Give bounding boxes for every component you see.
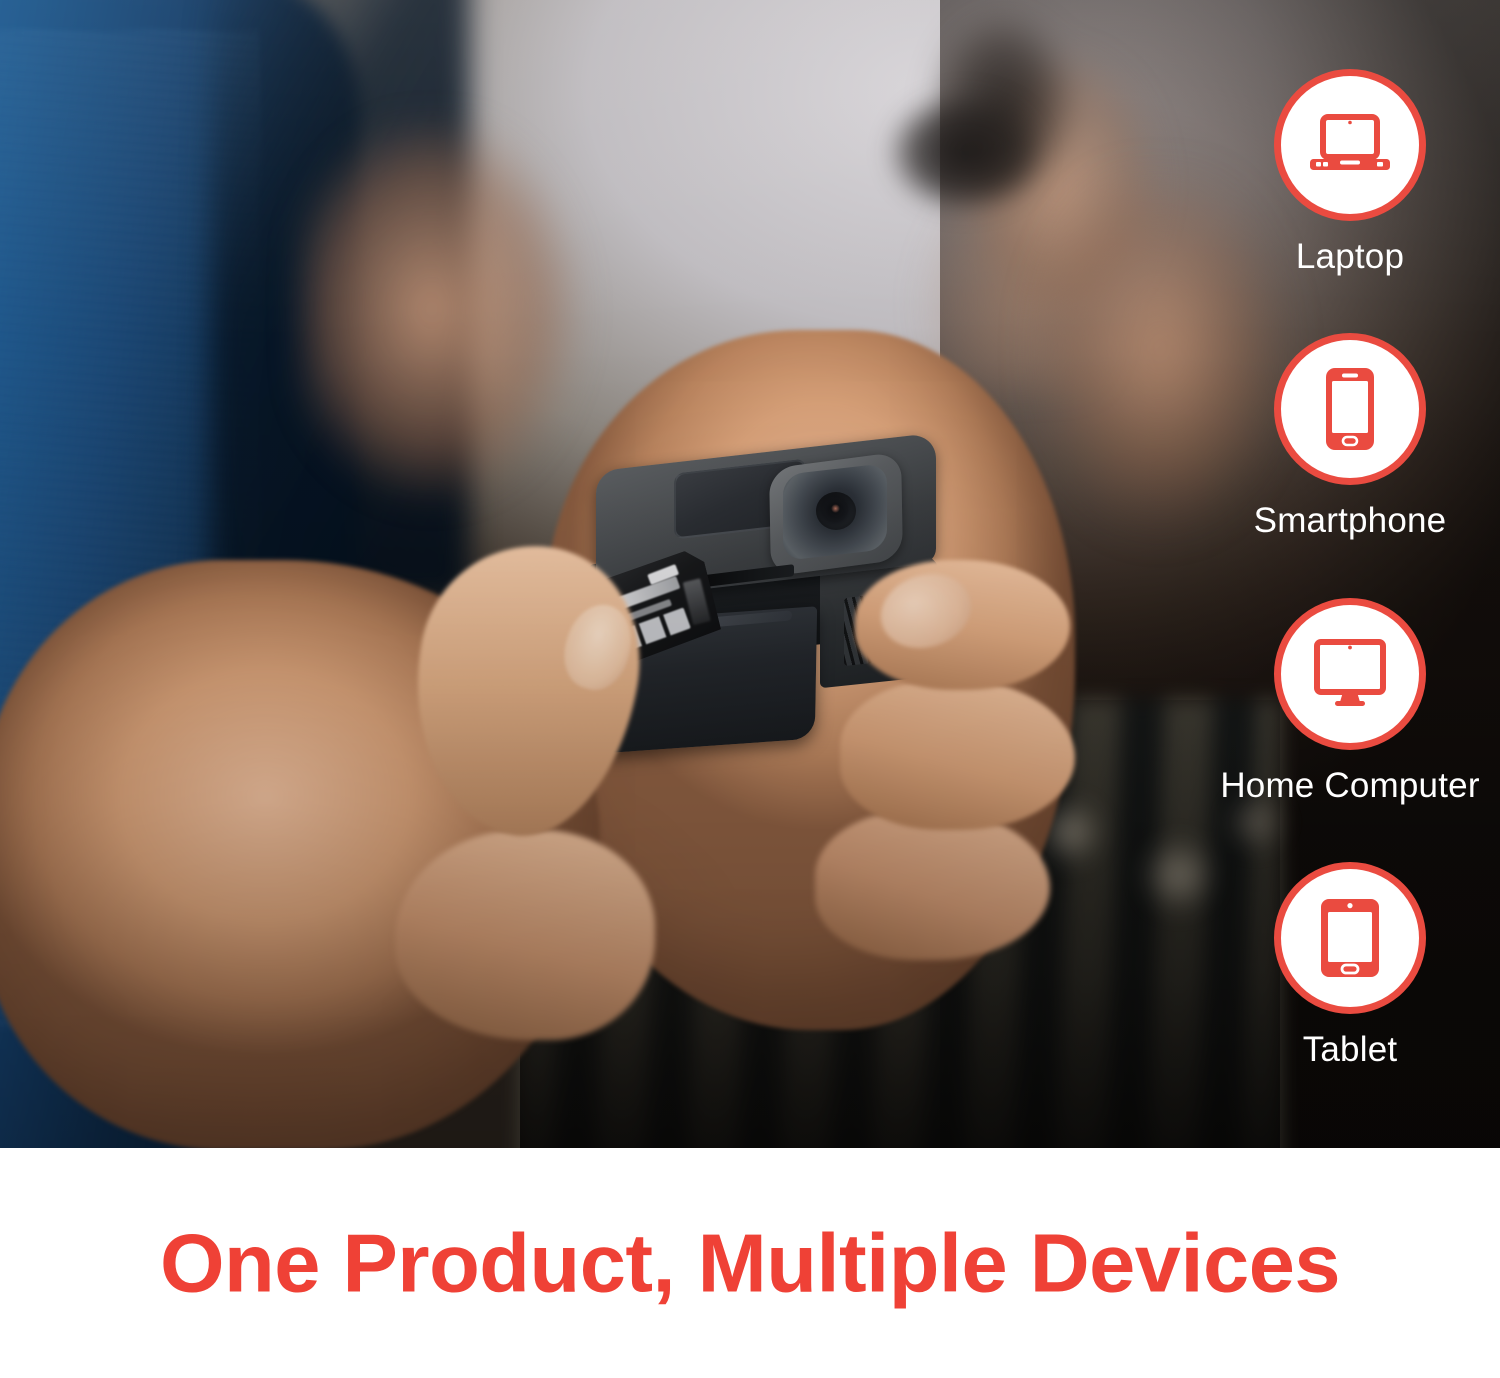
tablet-icon [1316,897,1384,979]
device-item-smartphone[interactable]: Smartphone [1200,333,1500,541]
device-label-laptop: Laptop [1200,237,1500,277]
device-label-home-computer: Home Computer [1200,766,1500,806]
device-icon-rail: Laptop Smartphone [1200,0,1500,1148]
device-label-smartphone: Smartphone [1200,501,1500,541]
headline-text: One Product, Multiple Devices [0,1222,1500,1305]
device-item-tablet[interactable]: Tablet [1200,862,1500,1070]
smartphone-icon [1321,366,1379,452]
laptop-icon [1307,113,1393,177]
device-item-home-computer[interactable]: Home Computer [1200,598,1500,806]
photo-right-hand-finger-2 [840,680,1075,830]
device-icon-badge-home-computer [1274,598,1426,750]
product-poster: Laptop Smartphone [0,0,1500,1378]
photo-right-hand-finger-3 [815,810,1050,960]
photo-background-camera [885,85,1045,220]
device-icon-badge-laptop [1274,69,1426,221]
hero-photo: Laptop Smartphone [0,0,1500,1148]
desktop-monitor-icon [1307,638,1393,710]
footer-band: One Product, Multiple Devices [0,1148,1500,1378]
photo-left-hand-fingers [395,830,655,1040]
device-label-tablet: Tablet [1200,1030,1500,1070]
device-icon-badge-tablet [1274,862,1426,1014]
device-icon-badge-smartphone [1274,333,1426,485]
camera-lens-glint [831,504,840,513]
device-item-laptop[interactable]: Laptop [1200,69,1500,277]
